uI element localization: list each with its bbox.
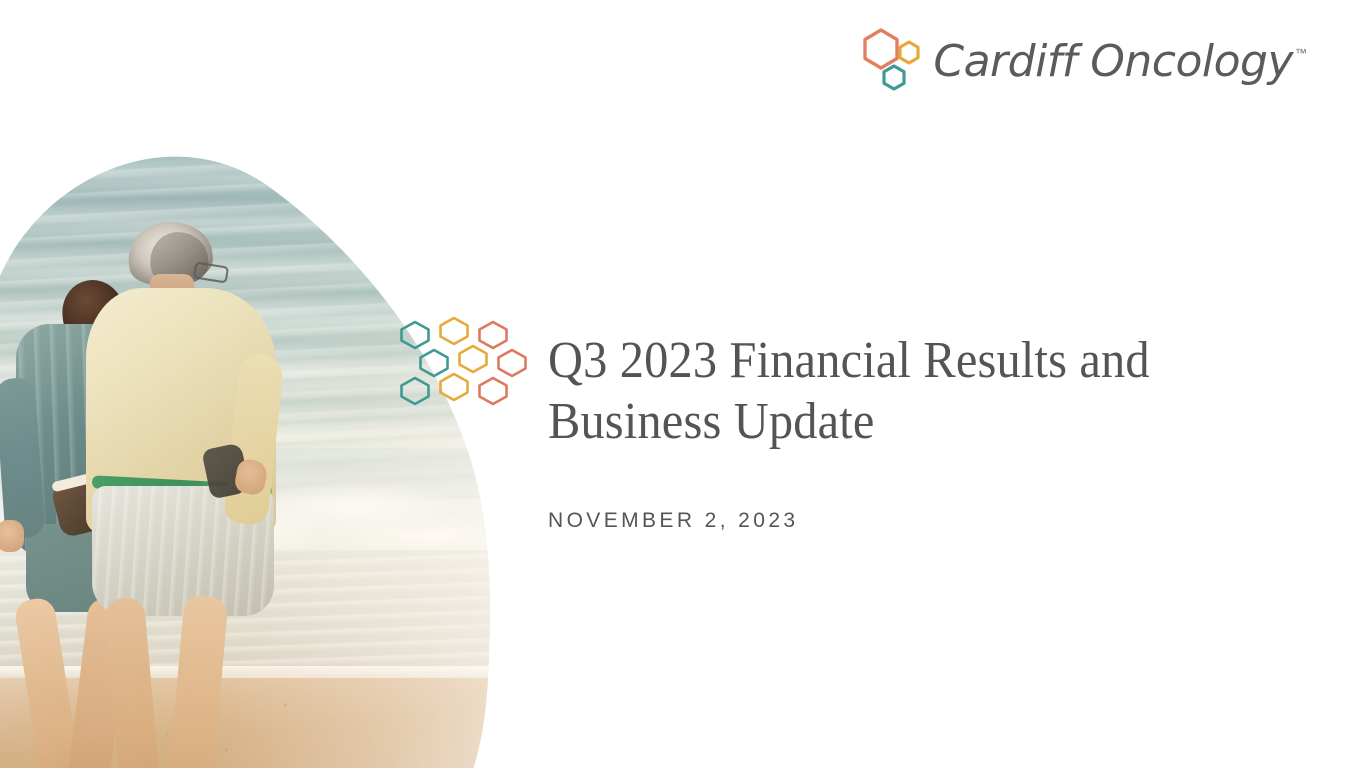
hexagon-cell-2-0 xyxy=(398,376,432,406)
brand-name: Cardiff Oncology xyxy=(933,40,1293,84)
small-gold-hexagon xyxy=(900,42,918,63)
logo-hexagon-mark xyxy=(861,28,923,96)
edge-fade-overlay xyxy=(0,128,492,768)
hexagon-cell-0-0 xyxy=(398,320,432,350)
beach-photograph xyxy=(0,128,492,768)
large-coral-hexagon xyxy=(865,30,897,68)
small-teal-hexagon xyxy=(884,66,904,89)
title-block: Q3 2023 Financial Results and Business U… xyxy=(548,330,1308,533)
trademark-symbol: ™ xyxy=(1295,46,1307,60)
presentation-date: NOVEMBER 2, 2023 xyxy=(548,509,1308,533)
page-title: Q3 2023 Financial Results and Business U… xyxy=(548,330,1255,453)
hexagon-cell-1-1 xyxy=(456,344,490,374)
cardiff-oncology-logo[interactable]: Cardiff Oncology ™ xyxy=(861,28,1307,96)
hexagon-cell-0-1 xyxy=(437,316,471,346)
hexagon-cell-1-2 xyxy=(495,348,529,378)
hero-image xyxy=(0,128,492,768)
hexagon-cell-2-1 xyxy=(437,372,471,402)
hexagon-cell-2-2 xyxy=(476,376,510,406)
title-slide: Cardiff Oncology ™ Q3 2023 Financial Res… xyxy=(0,0,1365,768)
hexagon-cluster-graphic xyxy=(398,316,518,414)
logo-wordmark: Cardiff Oncology ™ xyxy=(933,40,1307,84)
